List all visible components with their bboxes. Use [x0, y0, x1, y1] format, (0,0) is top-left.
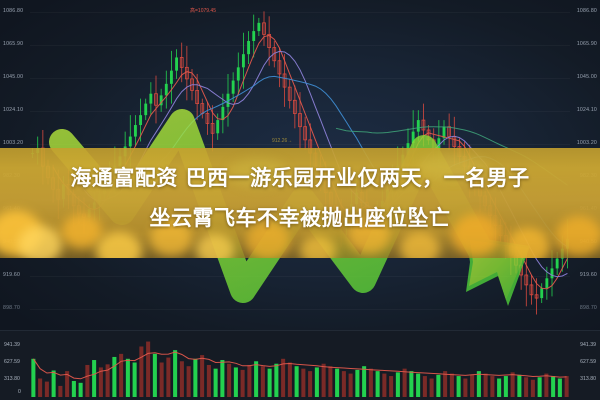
- headline-overlay: 海通富配资 巴西一游乐园开业仅两天，一名男子 坐云霄飞车不幸被抛出座位坠亡: [0, 158, 600, 238]
- screenshot-root: 1086.80 1065.90 1045.00 1024.10 1003.20 …: [0, 0, 600, 400]
- bokeh-light: [300, 236, 336, 258]
- headline-line-2: 坐云霄飞车不幸被抛出座位坠亡: [0, 198, 600, 238]
- headline-line-1: 海通富配资 巴西一游乐园开业仅两天，一名男子: [70, 166, 529, 190]
